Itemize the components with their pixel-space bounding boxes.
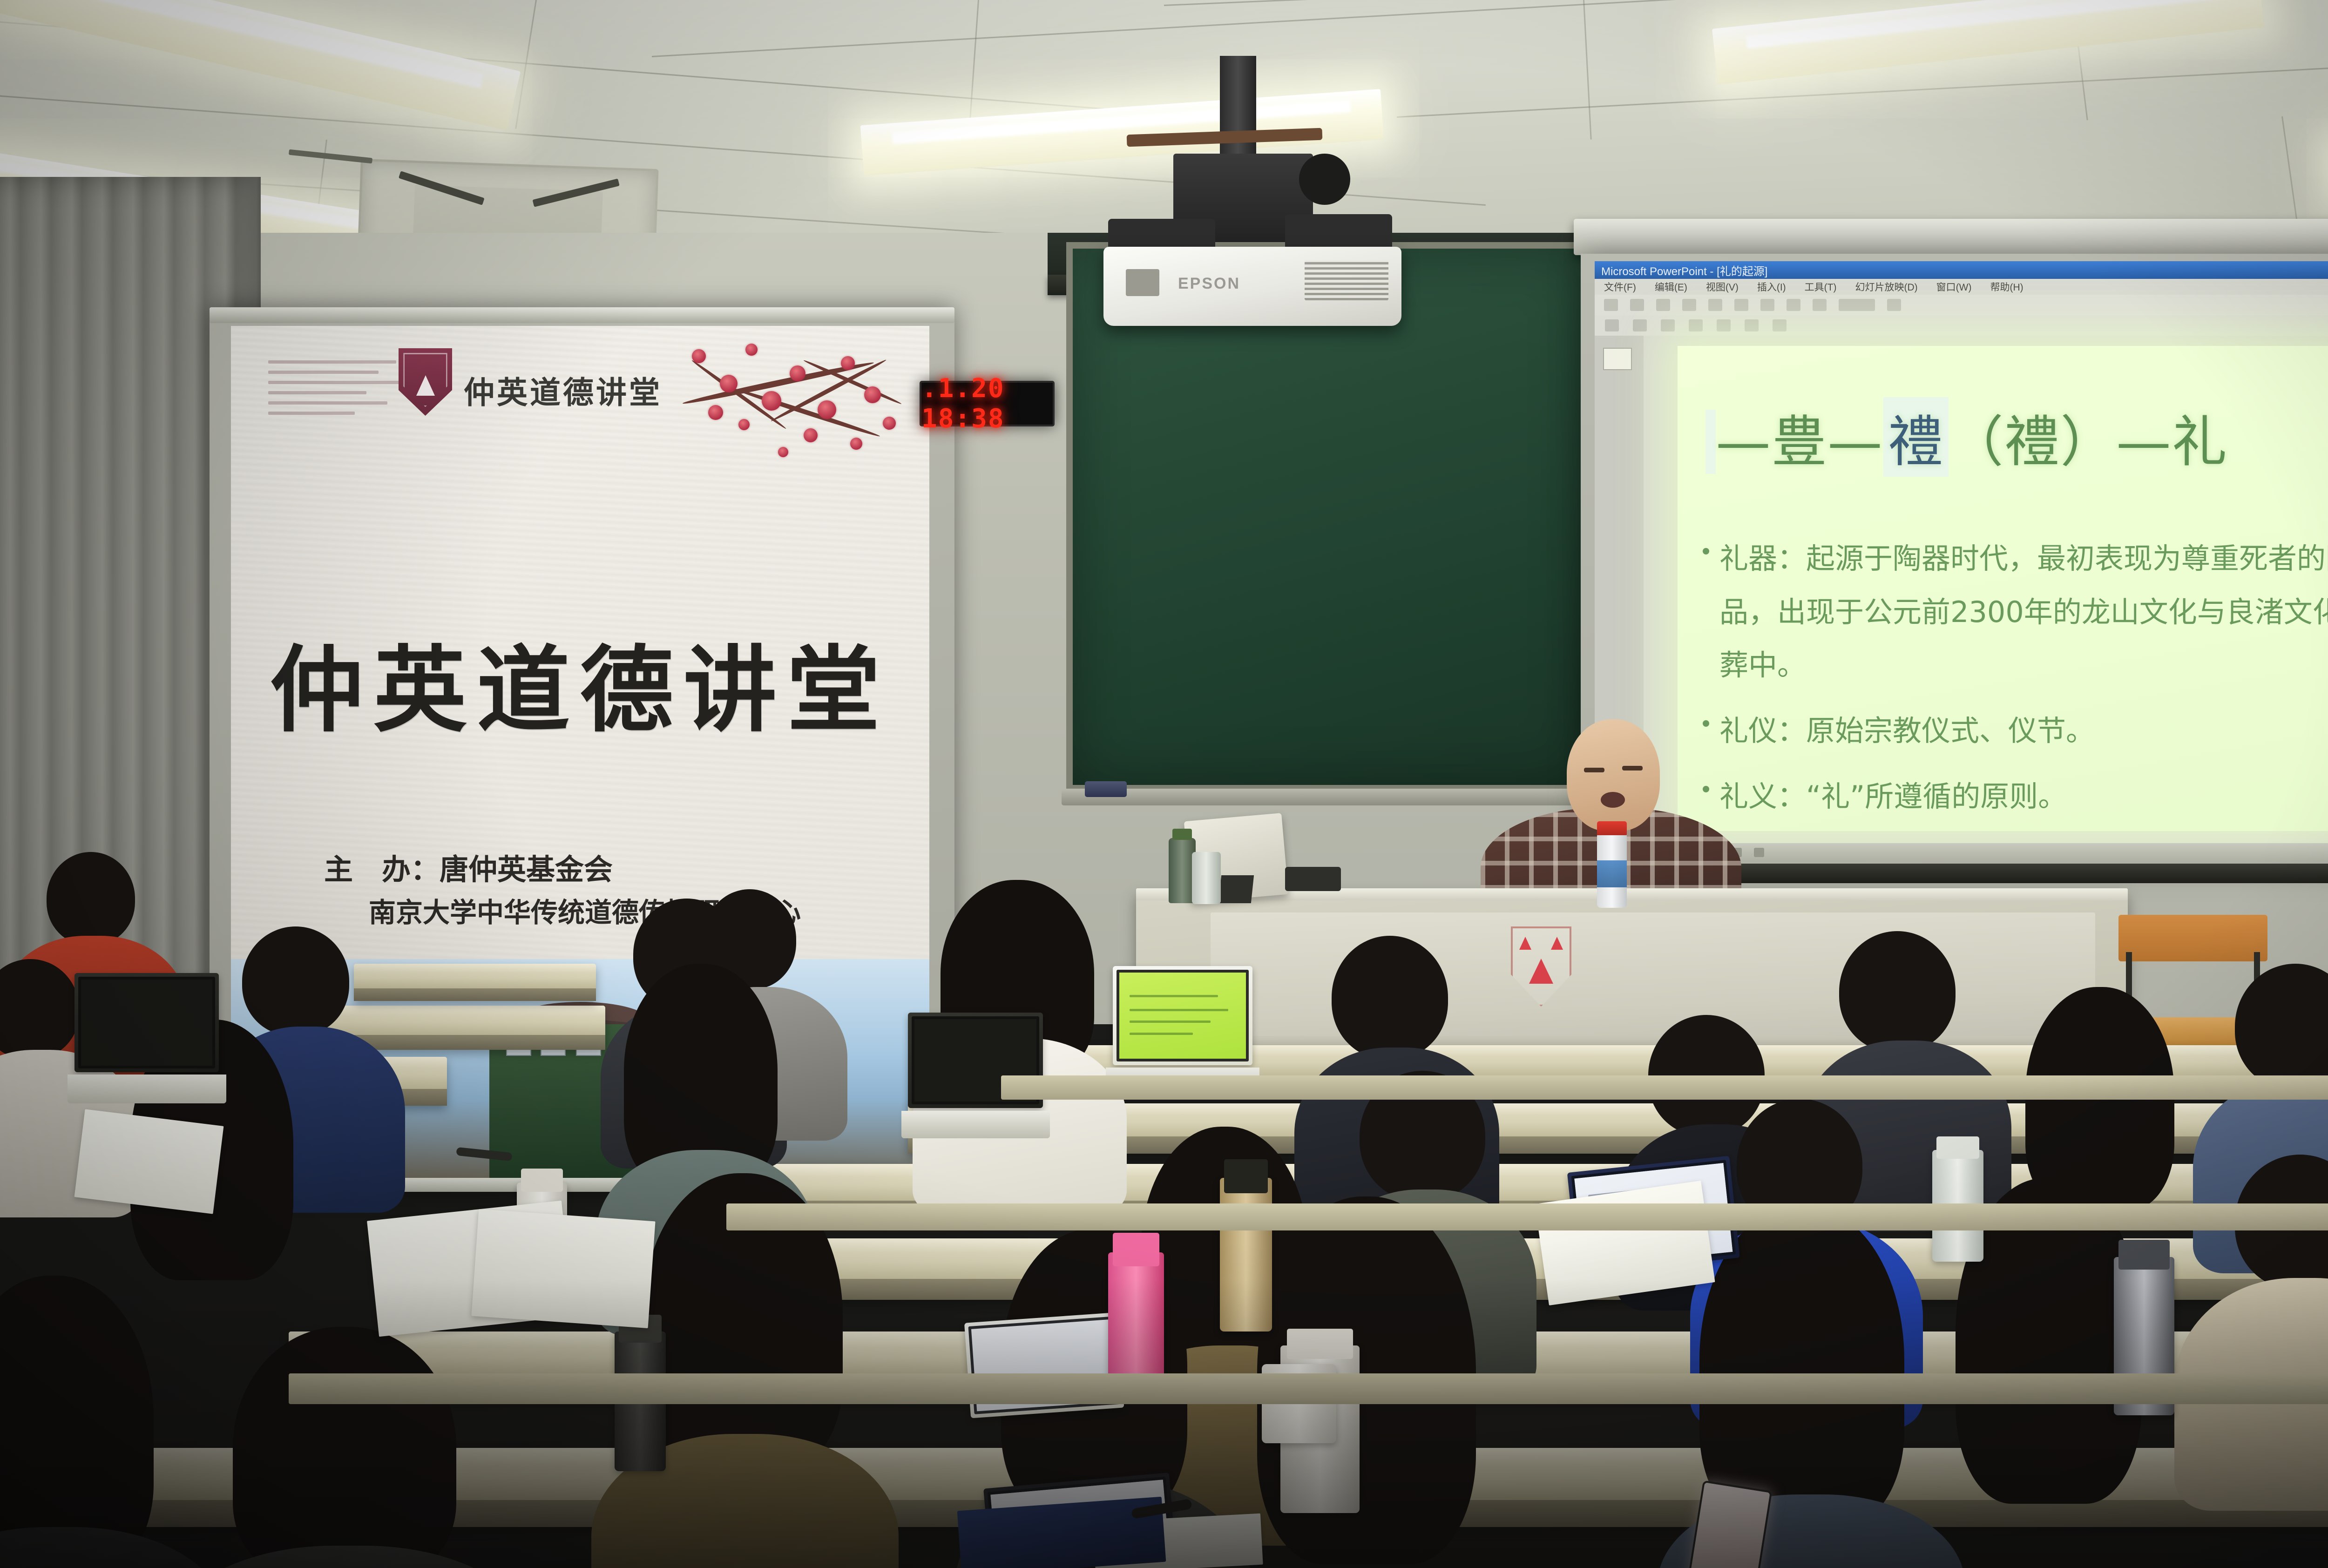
slide-thumbnail[interactable] [1603,348,1632,370]
print-icon[interactable] [1682,299,1696,311]
menu-item-window[interactable]: 窗口(W) [1936,280,1972,294]
presentation-slide: 𧵣—豊—禮（禮）—礼 礼器：起源于陶器时代，最初表现为尊重死者的随葬品，出现于公… [1678,346,2328,831]
slide-bullet-3: 礼义：“礼”所遵循的原则。 [1699,770,2328,824]
notebook-page[interactable] [471,1209,655,1328]
ceiling-light [1712,0,2264,84]
lecturer-head [1567,719,1660,831]
slide-bullet-2: 礼仪：原始宗教仪式、仪节。 [1699,704,2328,758]
cut-icon[interactable] [1708,299,1722,311]
slide-title: 𧵣—豊—禮（禮）—礼 [1705,397,2328,477]
handout-sheet[interactable] [74,1109,224,1214]
new-file-icon[interactable] [1604,299,1618,311]
podium-monitor-stand [1218,875,1254,903]
glass-tea-bottle[interactable] [1220,1178,1272,1331]
menu-item-slideshow[interactable]: 幻灯片放映(D) [1855,280,1917,294]
seat-bench [726,1203,2328,1230]
projector: EPSON [1103,247,1401,326]
seat-bench [289,1373,2328,1404]
banner-small-title: 仲英道德讲堂 [464,368,662,412]
led-clock-display: .1.20 18:38 [920,381,1055,426]
organizer-line-2: 南京大学中华传统道德传播研究中心 [369,892,883,934]
open-file-icon[interactable] [1630,299,1644,311]
menu-item-tools[interactable]: 工具(T) [1805,280,1837,294]
lecture-hall-photo: 仲英道德讲堂 [0,0,2328,1568]
blackboard-eraser[interactable] [1085,781,1127,797]
help-icon[interactable] [1887,299,1901,311]
title-dash-2: — [1827,410,1883,474]
pink-water-bottle[interactable] [1108,1252,1164,1392]
menu-item-help[interactable]: 帮助(H) [1990,280,2023,294]
menu-item-edit[interactable]: 编辑(E) [1655,280,1687,294]
menu-item-file[interactable]: 文件(F) [1604,280,1636,294]
ceiling-bracket [289,149,372,164]
wordart-tool-icon[interactable] [1773,319,1787,331]
projection-screen-housing [1574,219,2328,255]
lecturer-mouth [1601,792,1625,808]
save-icon[interactable] [1656,299,1670,311]
powerpoint-toolbar-row1[interactable] [1595,295,2328,315]
color-fill-icon[interactable] [1633,319,1647,331]
redo-icon[interactable] [1813,299,1827,311]
organizer-line-1: 主 办：唐仲英基金会 [324,847,883,892]
podium-keyboard[interactable] [1285,867,1341,891]
powerpoint-titlebar: Microsoft PowerPoint - [礼的起源] [1595,261,2328,279]
copy-icon[interactable] [1734,299,1748,311]
foundation-logo [268,354,417,424]
zoom-select-icon[interactable] [1839,299,1875,311]
title-dash-1: — [1716,410,1772,474]
title-char-feng: 豊 [1772,410,1827,474]
powerpoint-toolbar-row2[interactable] [1595,315,2328,336]
title-char-li-simp: —礼 [2116,410,2228,474]
nju-crest-on-podium [1511,926,1571,1007]
menu-item-view[interactable]: 视图(V) [1706,280,1739,294]
line-tool-icon[interactable] [1661,319,1675,331]
volume-icon[interactable] [1754,848,1764,857]
ceiling-speaker [1299,154,1350,205]
seat-bench [1001,1075,2328,1100]
student-desk-far-left [354,964,596,1001]
arrow-tool-icon[interactable] [1717,319,1731,331]
banner-main-title: 仲英道德讲堂 [231,615,929,750]
slide-bullet-1: 礼器：起源于陶器时代，最初表现为尊重死者的随葬品，出现于公元前2300年的龙山文… [1699,532,2328,692]
projector-brand-label: EPSON [1178,275,1240,293]
speaker-water-bottle[interactable] [1597,833,1627,908]
slide-bullet-list: 礼器：起源于陶器时代，最初表现为尊重死者的随葬品，出现于公元前2300年的龙山文… [1699,532,2328,831]
drawing-tool-icon[interactable] [1605,319,1619,331]
undo-icon[interactable] [1787,299,1800,311]
powerpoint-menubar[interactable]: 文件(F) 编辑(E) 视图(V) 插入(I) 工具(T) 幻灯片放映(D) 窗… [1595,279,2328,295]
shape-tool-icon[interactable] [1689,319,1703,331]
plum-blossom-decoration [664,331,925,503]
projector-vent [1305,261,1388,300]
menu-item-insert[interactable]: 插入(I) [1757,280,1786,294]
student-laptop[interactable] [74,973,219,1103]
projector-lens [1126,269,1159,296]
textbox-tool-icon[interactable] [1745,319,1759,331]
powerpoint-title-text: Microsoft PowerPoint - [礼的起源] [1601,262,1767,278]
title-char-li-seal: 禮 [1883,397,1949,477]
title-char-li-trad: （禮） [1949,410,2116,474]
oracle-bone-glyph: 𧵣 [1705,410,1716,474]
paste-icon[interactable] [1760,299,1774,311]
clock-text: .1.20 18:38 [921,373,1053,434]
podium-white-bottle[interactable] [1192,852,1221,904]
lecturer-eye-left [1584,768,1604,772]
lecturer-eye-right [1622,766,1643,770]
ceiling-light [0,0,521,130]
banner-organizer-block: 主 办：唐仲英基金会 南京大学中华传统道德传播研究中心 [324,847,883,934]
